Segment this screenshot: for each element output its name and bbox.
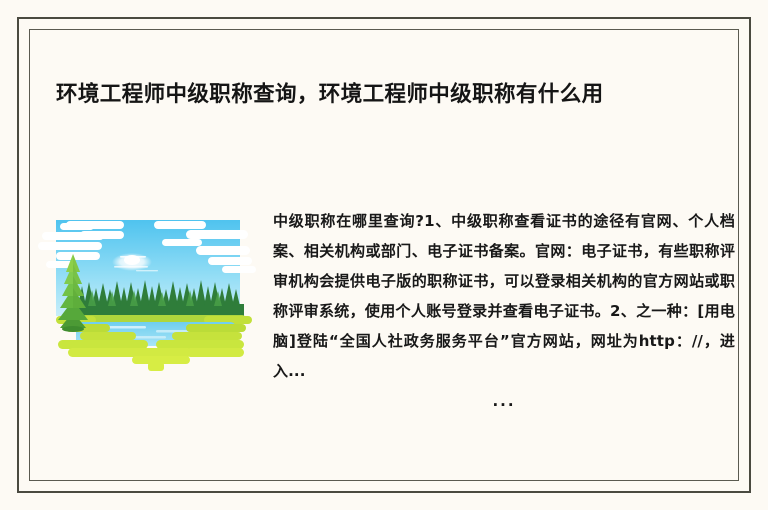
article-body-main: 中级职称在哪里查询?1、中级职称查看证书的途径有官网、个人档案、相关机构或部门、… xyxy=(273,212,735,380)
article-body-text: 中级职称在哪里查询?1、中级职称查看证书的途径有官网、个人档案、相关机构或部门、… xyxy=(273,206,735,416)
page-title: 环境工程师中级职称查询，环境工程师中级职称有什么用 xyxy=(56,80,716,110)
nature-landscape-illustration xyxy=(36,216,260,374)
article-body-continuation: ... xyxy=(273,386,735,416)
article-page: 环境工程师中级职称查询，环境工程师中级职称有什么用 xyxy=(0,0,768,510)
